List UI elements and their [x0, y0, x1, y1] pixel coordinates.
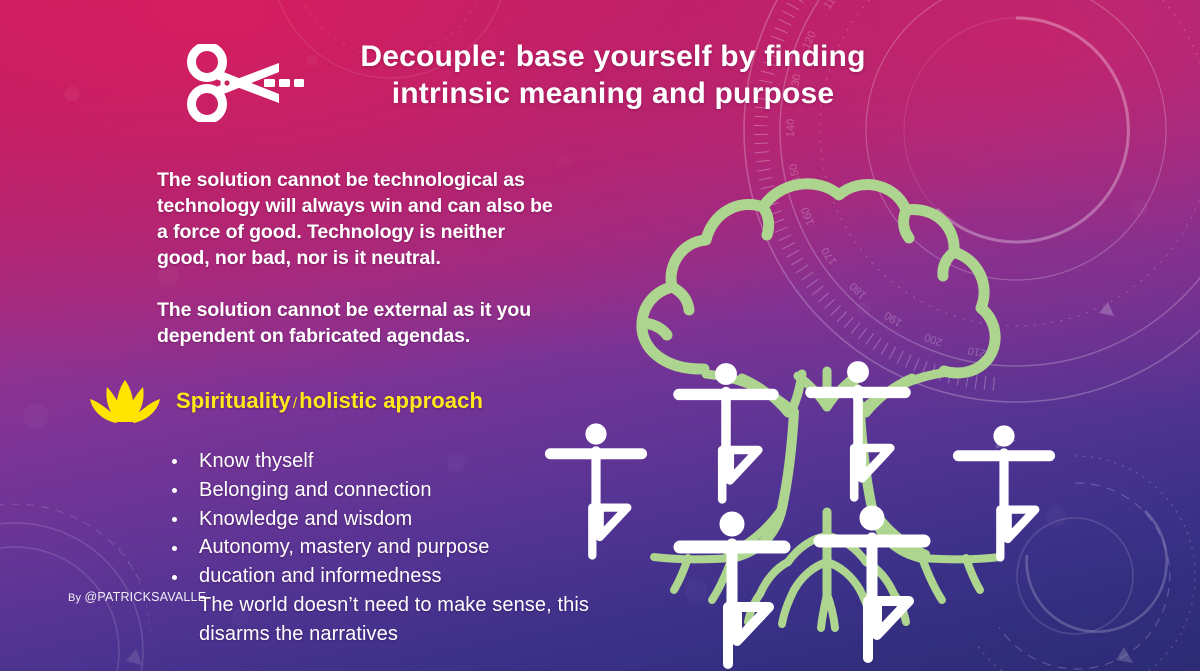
list-item: Knowledge and wisdom: [166, 505, 596, 534]
bullet-marker: [172, 575, 177, 580]
spirituality-word: Spirituality: [176, 388, 291, 413]
bullet-marker: [172, 517, 177, 522]
bullet-list: Know thyself Belonging and connection Kn…: [166, 447, 596, 649]
list-item: Belonging and connection: [166, 476, 596, 505]
spirituality-separator: /: [291, 395, 299, 412]
spirituality-heading-row: Spirituality/holistic approach: [88, 378, 483, 424]
scissors-cut-icon: [186, 44, 304, 122]
paragraph-2: The solution cannot be external as it yo…: [157, 298, 557, 350]
yoga-figure: [806, 362, 911, 498]
spirituality-label: Spirituality/holistic approach: [176, 388, 483, 414]
body-paragraphs: The solution cannot be technological as …: [157, 168, 557, 350]
yoga-figure: [674, 364, 779, 500]
list-item: ducation and informedness: [166, 562, 596, 591]
header: Decouple: base yourself by finding intri…: [186, 38, 906, 122]
yoga-figure: [545, 424, 646, 556]
tree-canopy: [642, 184, 995, 373]
list-item-label: Belonging and connection: [199, 479, 432, 501]
list-item-label: Knowledge and wisdom: [199, 508, 412, 530]
list-item: Autonomy, mastery and purpose: [166, 533, 596, 562]
dial-tick-label: 110: [822, 0, 842, 12]
tree-roots: [654, 508, 1000, 628]
bullet-marker: [172, 546, 177, 551]
yoga-figure: [953, 426, 1054, 558]
bullet-marker: [172, 488, 177, 493]
list-item-label: The world doesn’t need to make sense, th…: [199, 594, 589, 645]
bullet-marker: [172, 459, 177, 464]
lotus-icon: [88, 378, 162, 424]
page-title: Decouple: base yourself by finding intri…: [316, 38, 906, 112]
list-item-label: Know thyself: [199, 450, 314, 472]
spirituality-suffix: holistic approach: [299, 388, 483, 413]
title-line-1: Decouple: base yourself by finding: [320, 38, 906, 75]
tree-with-yoga-figures-illustration: [536, 124, 1076, 671]
author-watermark: By @PATRICKSAVALLE: [68, 590, 206, 604]
list-item-label: ducation and informedness: [199, 565, 442, 587]
list-item-label: Autonomy, mastery and purpose: [199, 536, 489, 558]
concentric-circles-graphic-bottom-left: [0, 461, 180, 671]
watermark-handle: @PATRICKSAVALLE: [85, 590, 207, 604]
list-item: Know thyself: [166, 447, 596, 476]
slide-canvas: 2102001901801701601501401301201101009080: [0, 0, 1200, 671]
watermark-prefix: By: [68, 592, 85, 604]
title-line-2: intrinsic meaning and purpose: [320, 75, 906, 112]
paragraph-1: The solution cannot be technological as …: [157, 168, 557, 272]
list-item: The world doesn’t need to make sense, th…: [166, 591, 596, 649]
